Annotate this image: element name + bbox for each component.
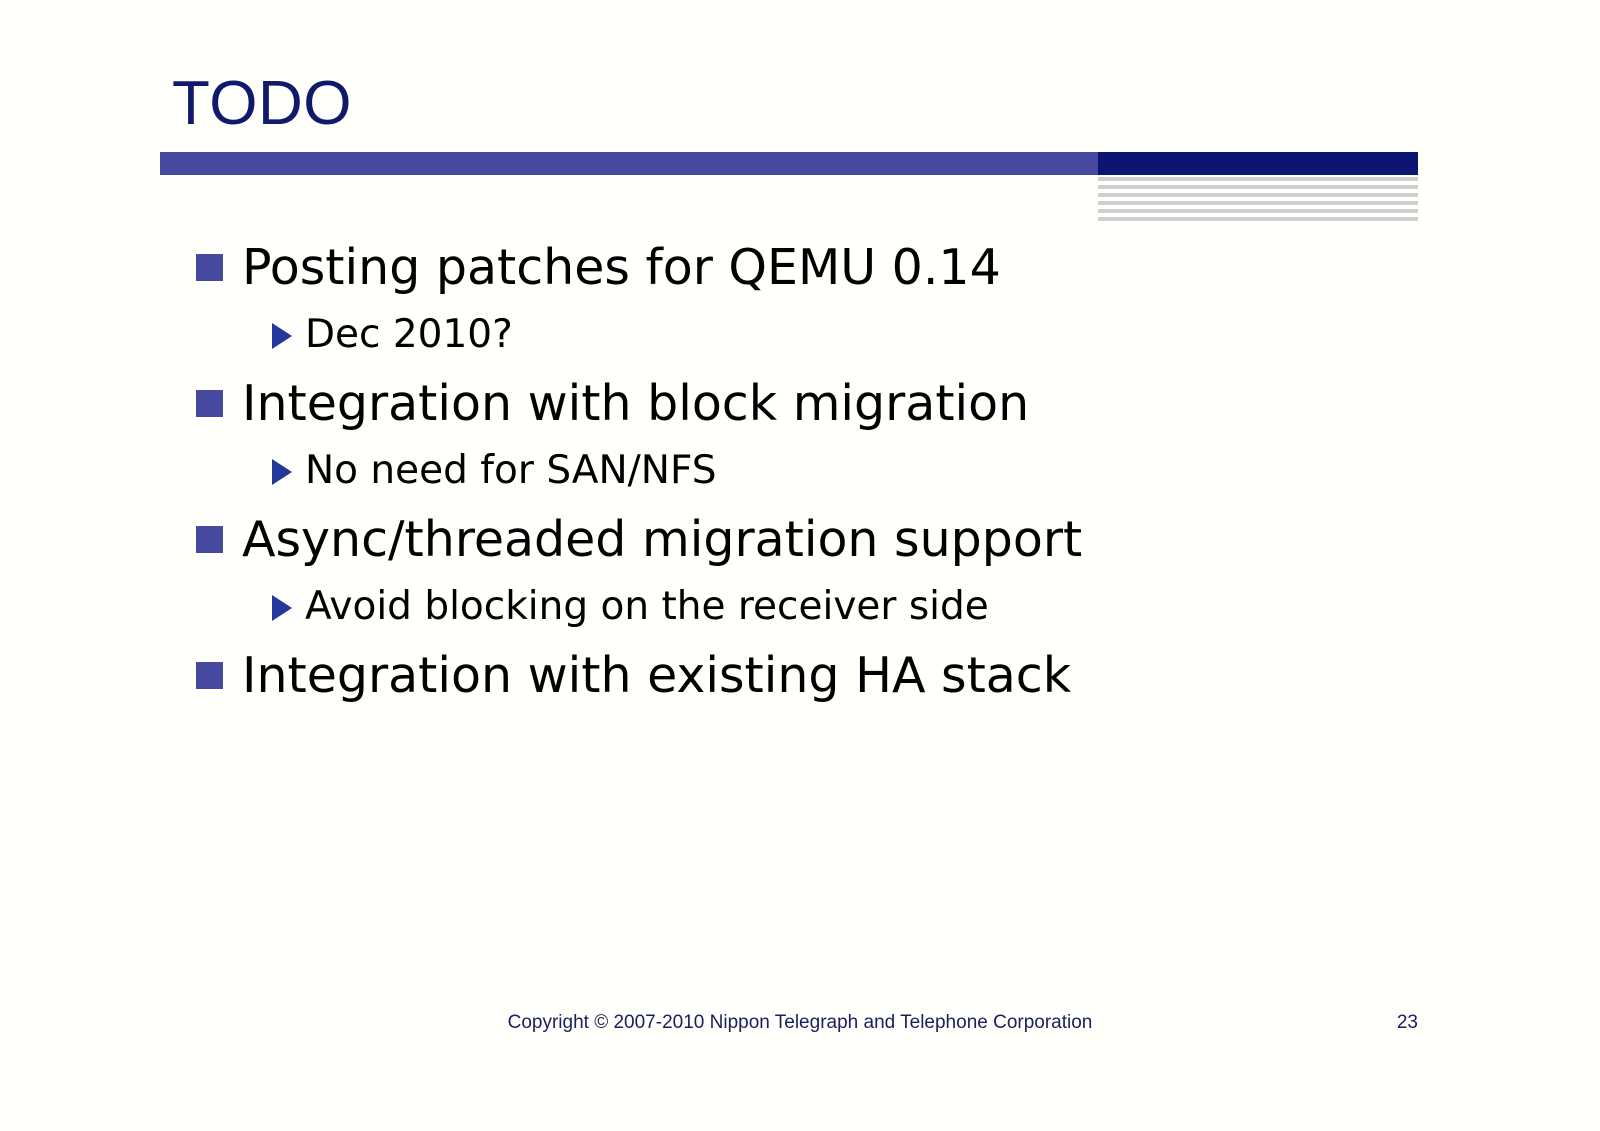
list-item: Avoid blocking on the receiver side xyxy=(272,578,1376,636)
stripe-line xyxy=(1098,217,1418,221)
list-item: Integration with block migration xyxy=(196,368,1376,440)
list-item-label: Posting patches for QEMU 0.14 xyxy=(242,232,1001,304)
list-item-label: Async/threaded migration support xyxy=(242,504,1082,576)
stripe-line xyxy=(1098,201,1418,205)
stripe-line xyxy=(1098,209,1418,213)
list-item: Posting patches for QEMU 0.14 xyxy=(196,232,1376,304)
footer-page-number: 23 xyxy=(1362,1012,1418,1034)
slide-canvas: TODO Posting patches for QEMU 0.14 Dec 2… xyxy=(0,0,1600,1131)
list-item-label: No need for SAN/NFS xyxy=(305,442,716,500)
triangle-bullet-icon xyxy=(272,595,292,621)
list-item-label: Dec 2010? xyxy=(305,306,513,364)
decorative-stripes xyxy=(1098,177,1418,223)
triangle-bullet-icon xyxy=(272,323,292,349)
list-item: Integration with existing HA stack xyxy=(196,640,1376,712)
list-item: Dec 2010? xyxy=(272,306,1376,364)
list-item-label: Avoid blocking on the receiver side xyxy=(305,578,989,636)
divider-segment-light xyxy=(160,152,1098,175)
triangle-bullet-icon xyxy=(272,459,292,485)
bullet-list: Posting patches for QEMU 0.14 Dec 2010? … xyxy=(196,232,1376,714)
square-bullet-icon xyxy=(196,254,223,281)
stripe-line xyxy=(1098,193,1418,197)
stripe-line xyxy=(1098,185,1418,189)
title-divider-bar xyxy=(160,152,1418,175)
list-item: Async/threaded migration support xyxy=(196,504,1376,576)
divider-segment-dark xyxy=(1098,152,1418,175)
footer-copyright: Copyright © 2007-2010 Nippon Telegraph a… xyxy=(0,1012,1600,1034)
square-bullet-icon xyxy=(196,662,223,689)
list-item: No need for SAN/NFS xyxy=(272,442,1376,500)
page-title: TODO xyxy=(172,68,352,140)
stripe-line xyxy=(1098,177,1418,181)
square-bullet-icon xyxy=(196,526,223,553)
square-bullet-icon xyxy=(196,390,223,417)
list-item-label: Integration with block migration xyxy=(242,368,1029,440)
list-item-label: Integration with existing HA stack xyxy=(242,640,1071,712)
